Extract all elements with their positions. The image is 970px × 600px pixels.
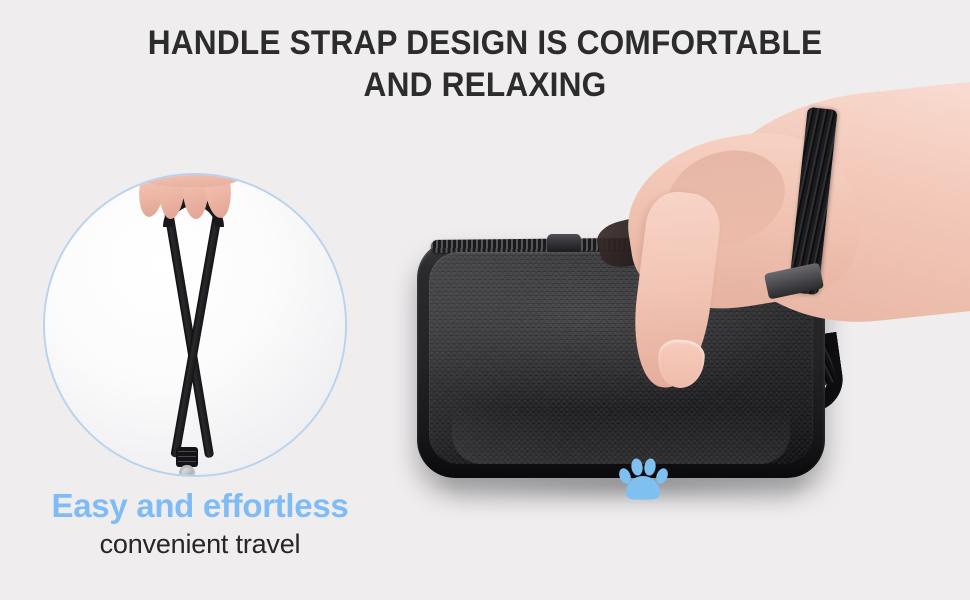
lanyard-strap-join: [176, 447, 198, 467]
lobster-clasp-icon: [176, 465, 198, 475]
lanyard-detail-circle: [45, 175, 345, 475]
product-banner: HANDLE STRAP DESIGN IS COMFORTABLE AND R…: [0, 0, 970, 600]
caption-headline: Easy and effortless: [0, 487, 400, 525]
product-photo: [380, 100, 970, 520]
case-zipper-slider: [547, 234, 581, 254]
lanyard-stitching: [178, 451, 196, 452]
caption-subtext: convenient travel: [0, 529, 400, 560]
clasp-ring: [179, 465, 195, 475]
paw-print-icon: [616, 455, 670, 507]
page-title: HANDLE STRAP DESIGN IS COMFORTABLE AND R…: [34, 22, 936, 106]
inset-hand: [137, 175, 247, 227]
lanyard-detail-scene: [45, 175, 345, 475]
